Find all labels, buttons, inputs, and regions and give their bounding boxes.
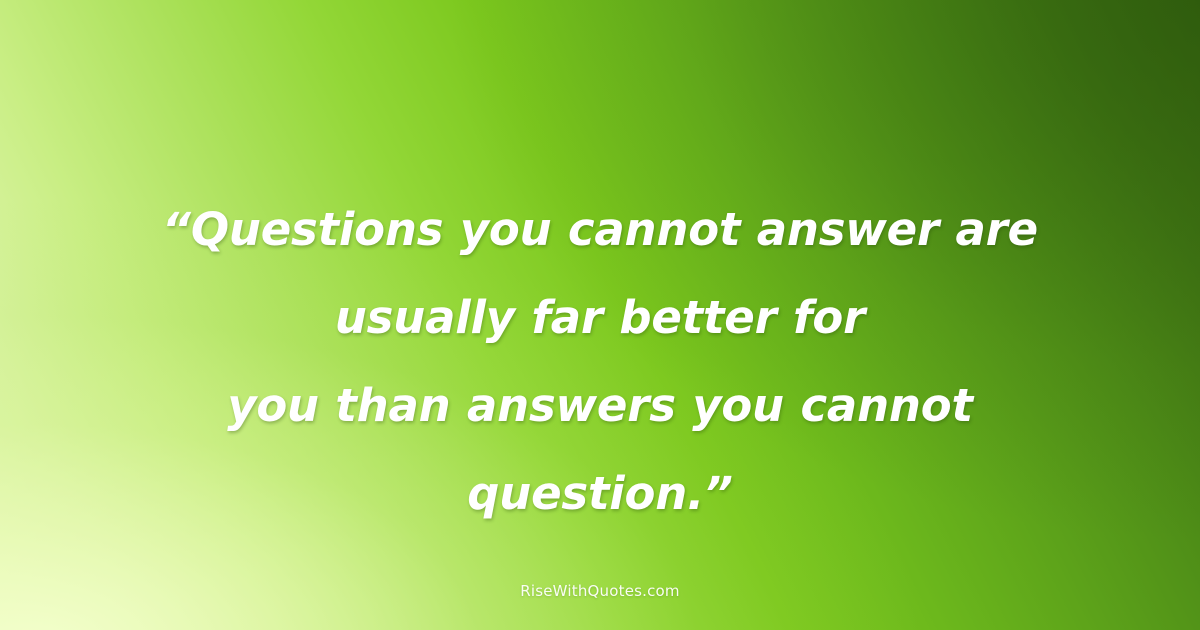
site-credit: RiseWithQuotes.com [520,582,680,600]
footer: RiseWithQuotes.com [0,581,1200,600]
quote-card: “Questions you cannot answer are usually… [0,0,1200,630]
quote-text: “Questions you cannot answer are usually… [92,186,1108,538]
quote-block: “Questions you cannot answer are usually… [0,186,1200,538]
card-content: “Questions you cannot answer are usually… [0,0,1200,630]
